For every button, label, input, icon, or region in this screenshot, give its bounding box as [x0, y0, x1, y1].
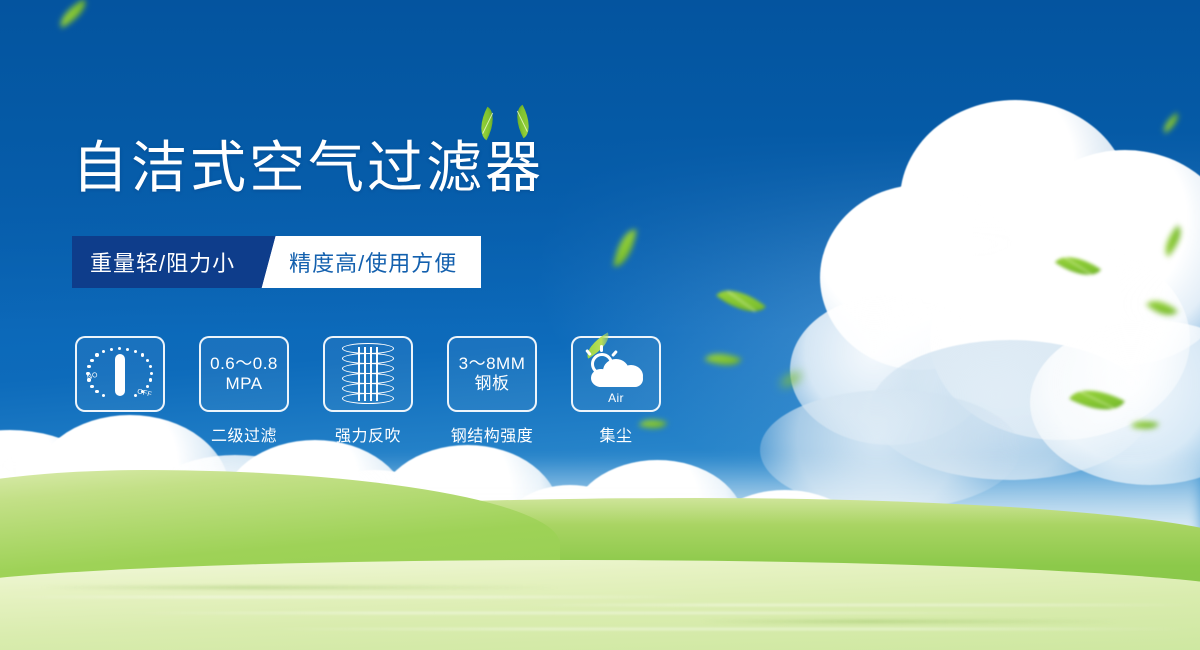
feature-caption-steel: 钢结构强度	[444, 422, 540, 446]
pressure-text-icon: 0.6～0.8 MPA	[210, 354, 278, 393]
feature-box-dust: Air	[571, 336, 661, 412]
gauge-off-label: OFF	[136, 388, 152, 398]
feature-item-filter[interactable]: 0.6～0.8 MPA 二级过滤	[196, 336, 292, 446]
subtitle-wedge-divider	[257, 236, 283, 288]
product-banner: 自洁式空气过滤器 重量轻/阻力小 精度高/使用方便	[0, 0, 1200, 650]
feature-caption-filter: 二级过滤	[196, 422, 292, 446]
feature-list: NO OFF 控制仪 0.6～0.8 MPA 二级过滤	[72, 336, 664, 446]
feature-box-steel: 3～8MM 钢板	[447, 336, 537, 412]
feature-caption-dust: 集尘	[568, 422, 664, 446]
gauge-dial-icon: NO OFF	[87, 343, 153, 405]
feature-box-filter: 0.6～0.8 MPA	[199, 336, 289, 412]
air-label: Air	[585, 391, 647, 405]
feature-box-blowback	[323, 336, 413, 412]
steel-plate-text-icon: 3～8MM 钢板	[459, 354, 526, 393]
page-title: 自洁式空气过滤器	[72, 140, 544, 196]
feature-item-steel[interactable]: 3～8MM 钢板 钢结构强度	[444, 336, 540, 446]
feature-item-dust[interactable]: Air 集尘	[568, 336, 664, 446]
subtitle-bar: 重量轻/阻力小 精度高/使用方便	[72, 236, 481, 288]
feature-caption-blowback: 强力反吹	[320, 422, 416, 446]
gauge-on-label: NO	[86, 372, 99, 382]
feature-item-blowback[interactable]: 强力反吹	[320, 336, 416, 446]
subtitle-right-text: 精度高/使用方便	[283, 236, 481, 288]
feature-box-control: NO OFF	[75, 336, 165, 412]
feature-item-control[interactable]: NO OFF 控制仪	[72, 336, 168, 446]
coil-spring-icon	[342, 343, 394, 405]
cloud-air-icon: Air	[585, 345, 647, 403]
subtitle-left-text: 重量轻/阻力小	[72, 236, 257, 288]
feature-caption-control: 控制仪	[72, 422, 168, 446]
